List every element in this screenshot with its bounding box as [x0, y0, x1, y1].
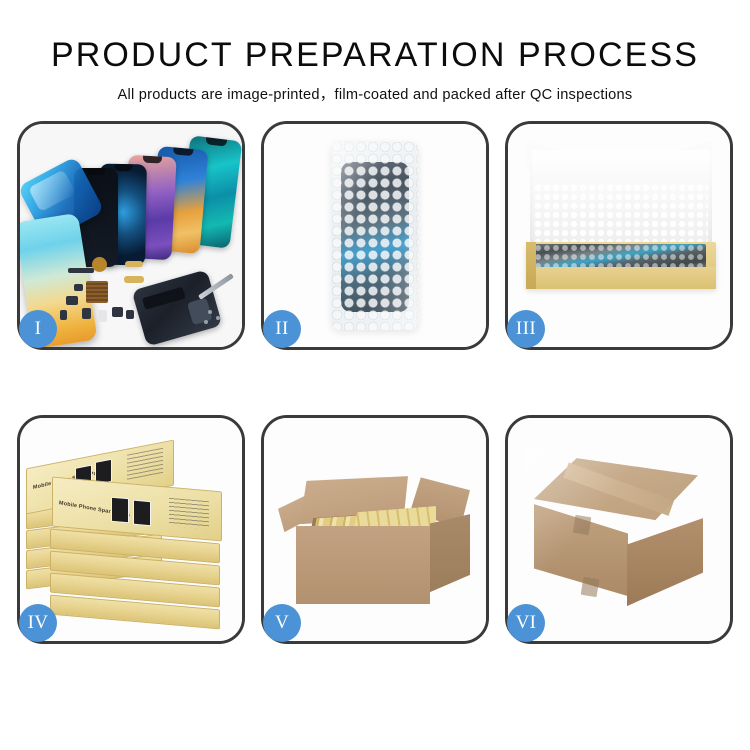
- step-image-iv: Mobile Phone Spare Parts Mobile Phone Sp…: [20, 418, 242, 641]
- carton-front: [296, 526, 430, 604]
- box-spec-lines: [169, 498, 209, 529]
- kraft-box-side: [526, 242, 536, 289]
- plastic-sheen: [332, 142, 418, 330]
- step-image-vi: [508, 418, 730, 641]
- step-panel-v: V: [261, 415, 489, 644]
- kraft-box-front: [526, 267, 716, 289]
- page-title: PRODUCT PREPARATION PROCESS: [0, 36, 750, 74]
- connector-part: [74, 284, 83, 291]
- flex-cable-part: [124, 276, 144, 283]
- carton-handle-cut: [581, 577, 600, 597]
- step-image-v: [264, 418, 486, 641]
- box-artwork-screen: [133, 500, 151, 527]
- step-badge-i: I: [19, 310, 57, 348]
- step-panel-vi: VI: [505, 415, 733, 644]
- step-badge-iv: IV: [19, 604, 57, 642]
- step-panel-ii: II: [261, 121, 489, 350]
- step-badge-ii: II: [263, 310, 301, 348]
- connector-part: [82, 308, 91, 319]
- step-image-iii: [508, 124, 730, 347]
- carton-side: [430, 514, 470, 592]
- carton-handle-cut: [573, 515, 592, 535]
- step-badge-iii: III: [507, 310, 545, 348]
- product-preparation-infographic: PRODUCT PREPARATION PROCESS All products…: [0, 0, 750, 750]
- battery-part: [98, 310, 107, 322]
- header: PRODUCT PREPARATION PROCESS All products…: [0, 0, 750, 104]
- step-panel-iii: III: [505, 121, 733, 350]
- logic-board-part: [86, 281, 108, 303]
- step-panel-iv: Mobile Phone Spare Parts Mobile Phone Sp…: [17, 415, 245, 644]
- flex-cable-part: [125, 261, 143, 267]
- flex-cable-part: [68, 268, 94, 273]
- speaker-part: [92, 257, 107, 272]
- step-image-i: [20, 124, 242, 347]
- connector-part: [126, 310, 134, 319]
- bubble-wrap-bag: [332, 142, 418, 330]
- sim-tray-part: [60, 310, 67, 320]
- step-badge-vi: VI: [507, 604, 545, 642]
- connector-part: [66, 296, 78, 305]
- step-panel-i: I: [17, 121, 245, 350]
- camera-part: [112, 307, 123, 317]
- page-subtitle: All products are image-printed，film-coat…: [0, 83, 750, 104]
- sealed-carton-side: [627, 518, 703, 606]
- step-badge-v: V: [263, 604, 301, 642]
- process-steps-grid: I II: [17, 121, 733, 644]
- step-image-ii: [264, 124, 486, 347]
- box-artwork-screen: [111, 497, 129, 524]
